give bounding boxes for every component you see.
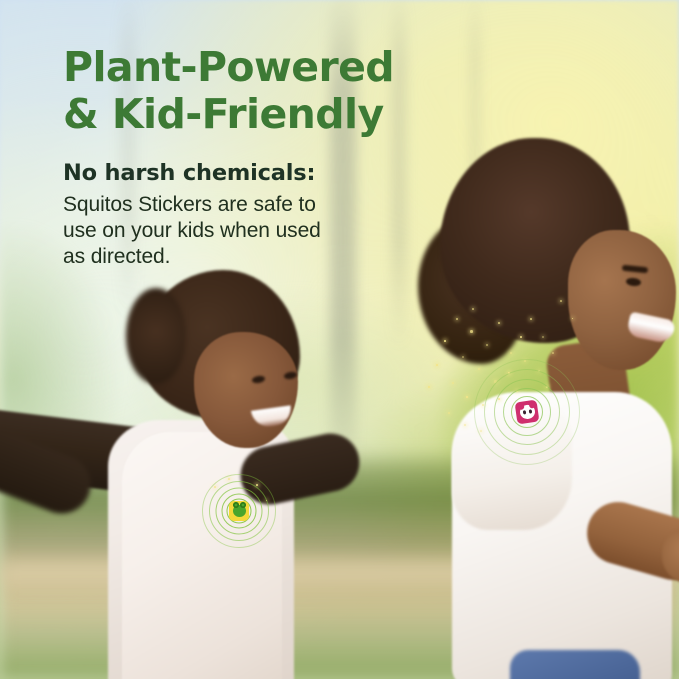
child-right-shorts	[510, 650, 640, 679]
child-left	[0, 270, 350, 679]
marketing-copy: Plant-Powered & Kid-Friendly No harsh ch…	[63, 44, 493, 270]
body-text: Squitos Stickers are safe to use on your…	[63, 192, 373, 270]
panda-sticker-badge	[515, 400, 540, 425]
panda-eyes	[522, 409, 531, 414]
subhead: No harsh chemicals:	[63, 160, 493, 186]
panda-face-icon	[519, 404, 536, 420]
headline: Plant-Powered & Kid-Friendly	[63, 44, 493, 138]
frog-sticker-badge	[229, 501, 249, 521]
child-left-face	[194, 332, 298, 448]
frog-face-icon	[233, 505, 246, 517]
child-right-face	[568, 230, 676, 370]
product-lifestyle-image: Plant-Powered & Kid-Friendly No harsh ch…	[0, 0, 679, 679]
